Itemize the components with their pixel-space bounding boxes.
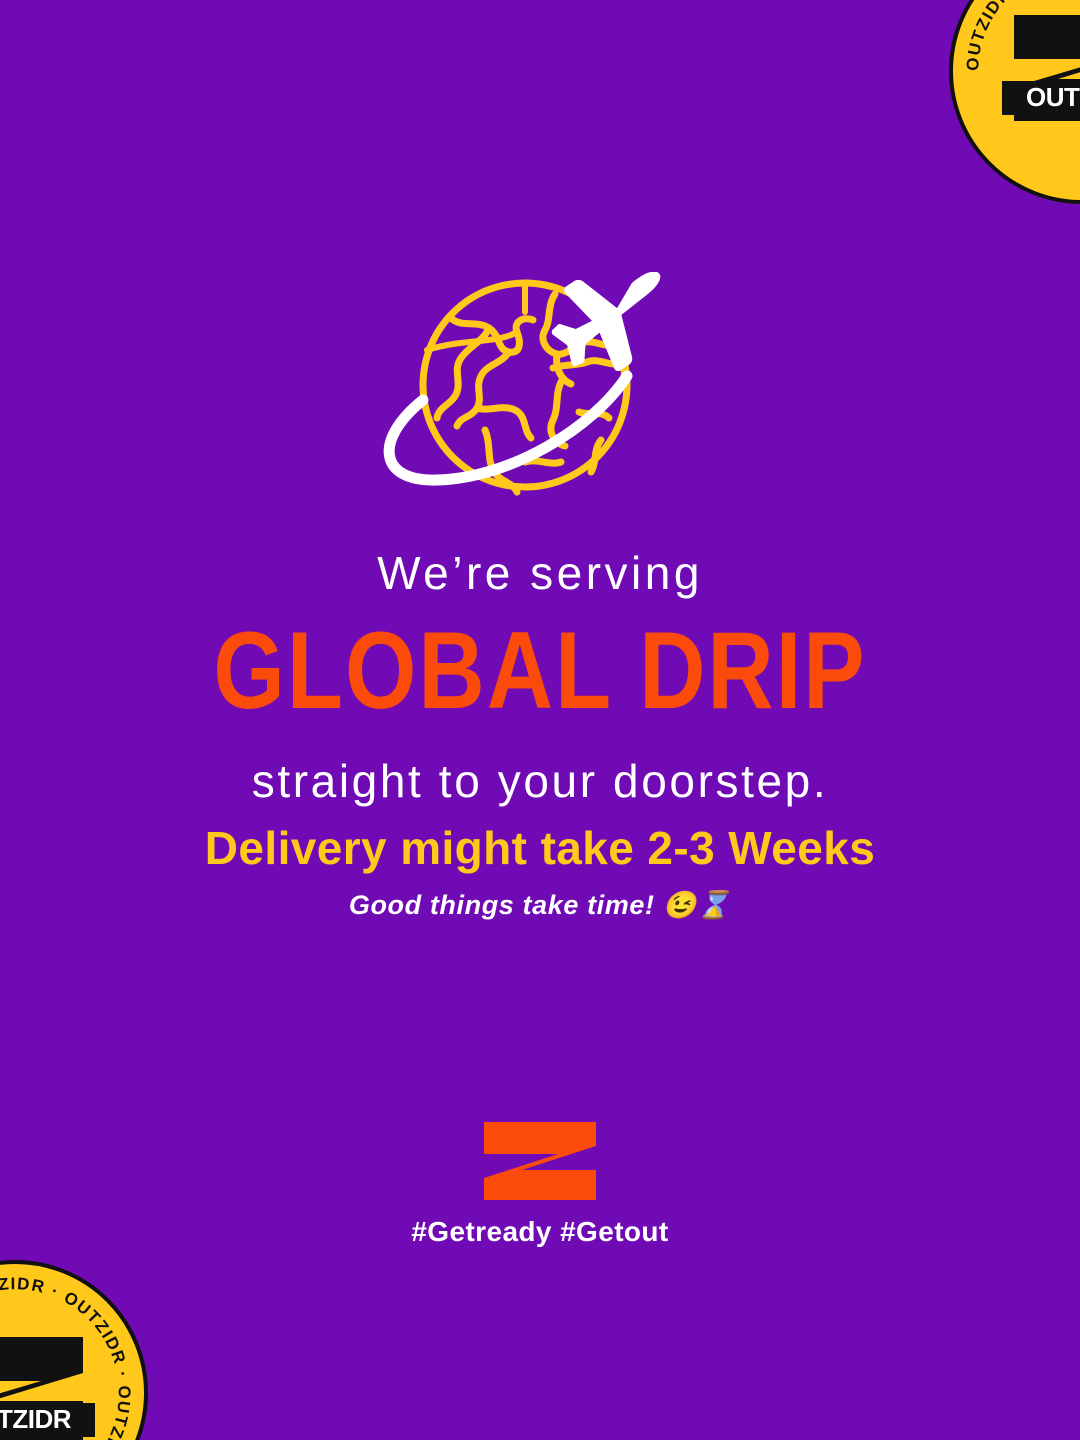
headline-line-2: GLOBAL DRIP <box>0 609 1080 735</box>
outzidr-sticker-bottom-left: OUTZIDR · OUTZIDR · OUTZIDR · OUTZIDR · … <box>0 1260 148 1440</box>
outzidr-z-logo <box>478 1120 602 1202</box>
headline-block: We’re serving GLOBAL DRIP straight to yo… <box>0 548 1080 807</box>
footer-hashtags: #Getready #Getout <box>0 1216 1080 1248</box>
outzidr-sticker-top-right: OUTZIDR · OUTZIDR · OUTZIDR · OUTZIDR · … <box>949 0 1080 204</box>
delivery-notice-block: Delivery might take 2-3 Weeks Good thing… <box>0 822 1080 921</box>
delivery-subnote: Good things take time! 😉⌛ <box>0 889 1080 921</box>
badge-z-logo-top-right: OUTZIDR <box>998 9 1080 133</box>
footer-block: #Getready #Getout <box>0 1120 1080 1248</box>
badge-wordmark: OUTZIDR <box>0 1404 72 1434</box>
headline-line-1: We’re serving <box>0 548 1080 599</box>
delivery-time-notice: Delivery might take 2-3 Weeks <box>0 822 1080 875</box>
badge-wordmark: OUTZIDR <box>1026 82 1080 112</box>
poster-canvas: OUTZIDR · OUTZIDR · OUTZIDR · OUTZIDR · … <box>0 0 1080 1440</box>
headline-line-3: straight to your doorstep. <box>0 756 1080 807</box>
hero-illustration <box>0 272 1080 502</box>
badge-z-logo-bottom-left: OUTZIDR <box>0 1331 99 1440</box>
globe-airplane-icon <box>365 272 715 502</box>
